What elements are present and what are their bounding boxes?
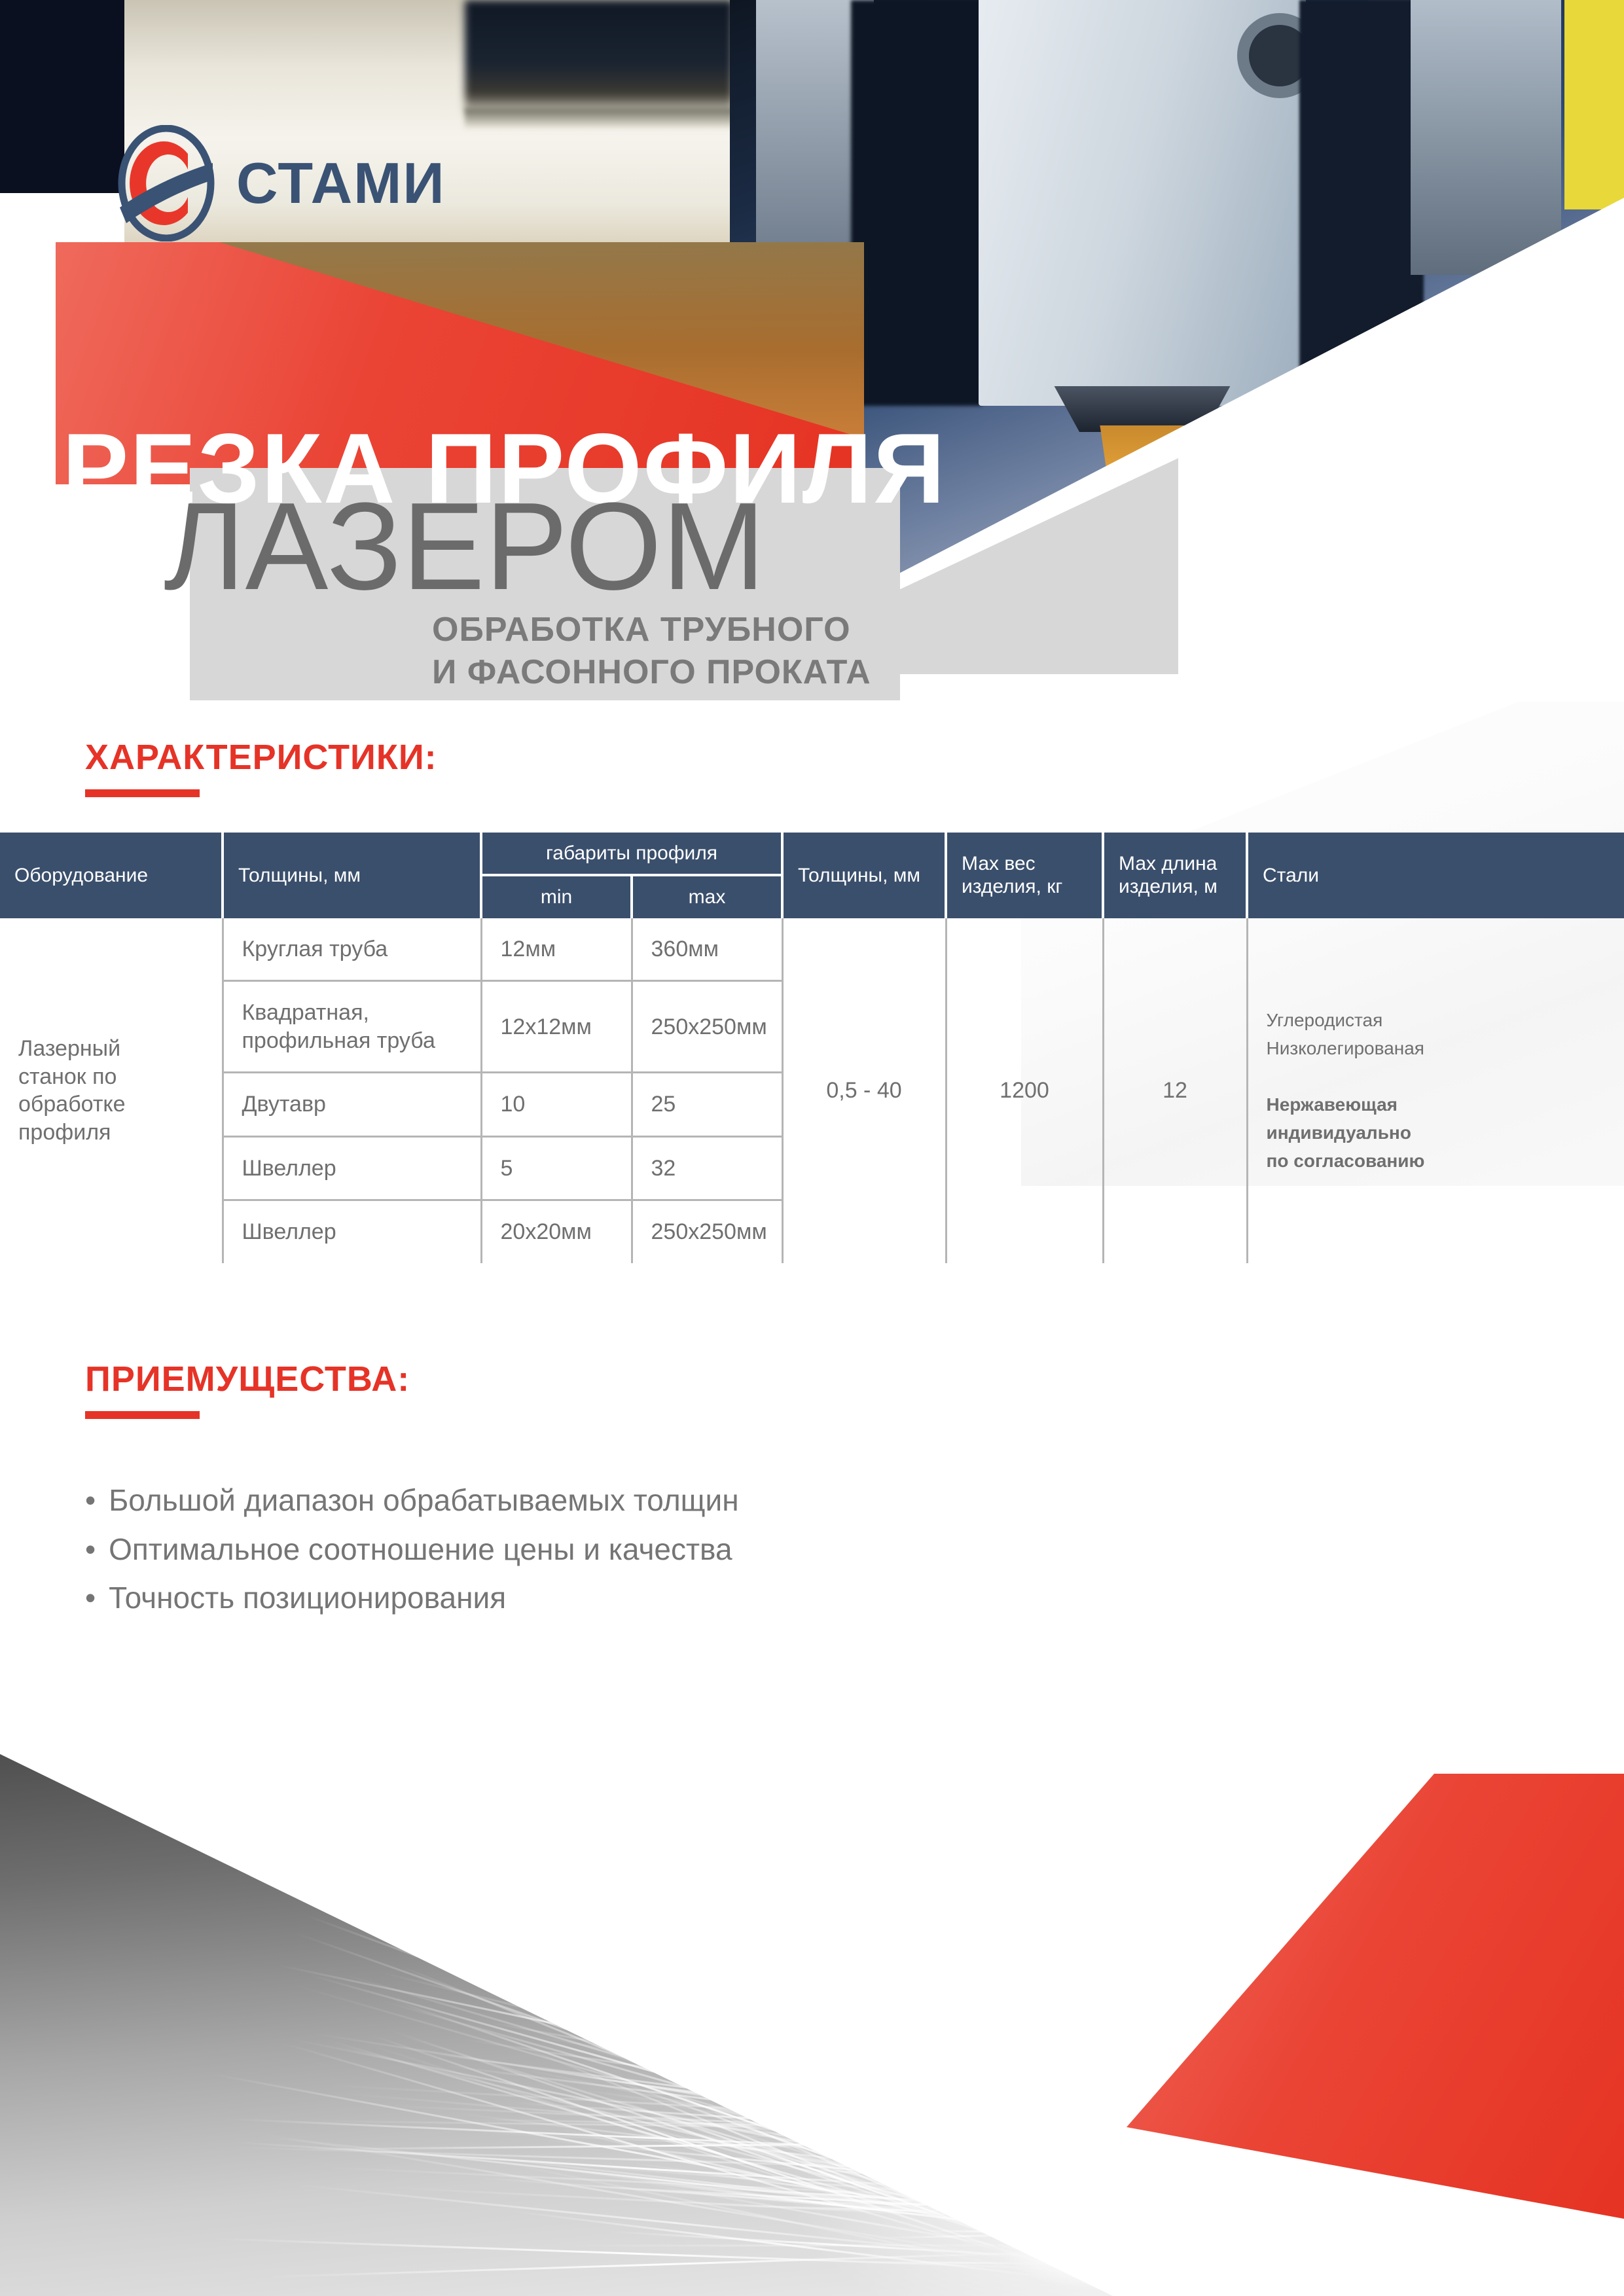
laser-head-body — [979, 0, 1306, 406]
td-max-length: 12 — [1103, 918, 1247, 1263]
td-thickness-sheet: 0,5 - 40 — [782, 918, 946, 1263]
td-profile: Квадратная, профильная труба — [223, 981, 481, 1073]
brand-logo: СТАМИ — [115, 124, 520, 242]
yellow-panel — [1564, 0, 1624, 209]
steels-spacer — [1267, 1063, 1606, 1090]
td-steels: Углеродистая Низколегированая Нержавеюща… — [1247, 918, 1624, 1263]
td-min: 12мм — [481, 918, 632, 981]
table-header-row-1: Оборудование Толщины, мм габариты профил… — [0, 833, 1624, 875]
th-thickness-profile: Толщины, мм — [223, 833, 481, 918]
stami-ellipse-logo-icon — [115, 125, 218, 242]
table-row: Лазерный станок по обработке профиля Кру… — [0, 918, 1624, 981]
footer-laser-flash — [995, 2193, 1218, 2291]
td-profile: Круглая труба — [223, 918, 481, 981]
td-min: 5 — [481, 1136, 632, 1200]
brand-name: СТАМИ — [236, 154, 446, 212]
th-equipment: Оборудование — [0, 833, 223, 918]
specifications-table-zone: Оборудование Толщины, мм габариты профил… — [0, 833, 1624, 1330]
th-steels: Стали — [1247, 833, 1624, 918]
hero-banner: СТАМИ РЕЗКА ПРОФИЛЯ ЛАЗЕРОМ ОБРАБОТКА ТР… — [0, 0, 1624, 700]
th-thickness-sheet: Толщины, мм — [782, 833, 946, 918]
td-min: 10 — [481, 1073, 632, 1137]
advantages-section-heading: ПРИЕМУЩЕСТВА: — [85, 1361, 410, 1419]
td-min: 20x20мм — [481, 1200, 632, 1263]
advantages-heading-text: ПРИЕМУЩЕСТВА: — [85, 1361, 410, 1397]
td-min: 12x12мм — [481, 981, 632, 1073]
list-item: Большой диапазон обрабатываемых толщин — [85, 1476, 739, 1525]
td-profile: Швеллер — [223, 1136, 481, 1200]
td-profile: Швеллер — [223, 1200, 481, 1263]
td-max-weight: 1200 — [946, 918, 1103, 1263]
hero-title-line2: ЛАЗЕРОМ — [164, 484, 765, 609]
specs-heading-text: ХАРАКТЕРИСТИКИ: — [85, 740, 437, 775]
th-dim-min: min — [481, 875, 632, 918]
machine-column-right — [1411, 0, 1561, 275]
list-item: Точность позиционирования — [85, 1573, 739, 1623]
td-max: 360мм — [632, 918, 782, 981]
td-max: 250x250мм — [632, 1200, 782, 1263]
footer-machine-arm — [910, 2036, 1185, 2098]
th-max-length: Мах длина изделия, м — [1103, 833, 1247, 918]
td-max: 32 — [632, 1136, 782, 1200]
specs-section-heading: ХАРАКТЕРИСТИКИ: — [85, 740, 437, 797]
td-max: 250x250мм — [632, 981, 782, 1073]
td-profile: Двутавр — [223, 1073, 481, 1137]
specs-heading-rule — [85, 789, 200, 797]
advantages-list: Большой диапазон обрабатываемых толщин О… — [85, 1476, 739, 1623]
advantages-heading-rule — [85, 1411, 200, 1419]
th-max-weight: Мах вес изделия, кг — [946, 833, 1103, 918]
td-max: 25 — [632, 1073, 782, 1137]
list-item: Оптимальное соотношение цены и качества — [85, 1525, 739, 1574]
td-equipment: Лазерный станок по обработке профиля — [0, 918, 223, 1263]
footer-banner — [0, 1669, 1624, 2296]
th-dim-max: max — [632, 875, 782, 918]
footer-laser-head — [962, 2062, 1159, 2212]
footer-red-wedge — [1127, 1774, 1624, 2219]
steels-normal: Углеродистая Низколегированая — [1267, 1006, 1606, 1063]
hero-subtitle: ОБРАБОТКА ТРУБНОГО И ФАСОННОГО ПРОКАТА — [432, 609, 871, 694]
machine-shadow-left — [851, 0, 982, 406]
steels-bold: Нержавеющая индивидуально по согласовани… — [1267, 1090, 1606, 1175]
th-dimensions-group: габариты профиля — [481, 833, 782, 875]
specifications-table: Оборудование Толщины, мм габариты профил… — [0, 833, 1624, 1263]
